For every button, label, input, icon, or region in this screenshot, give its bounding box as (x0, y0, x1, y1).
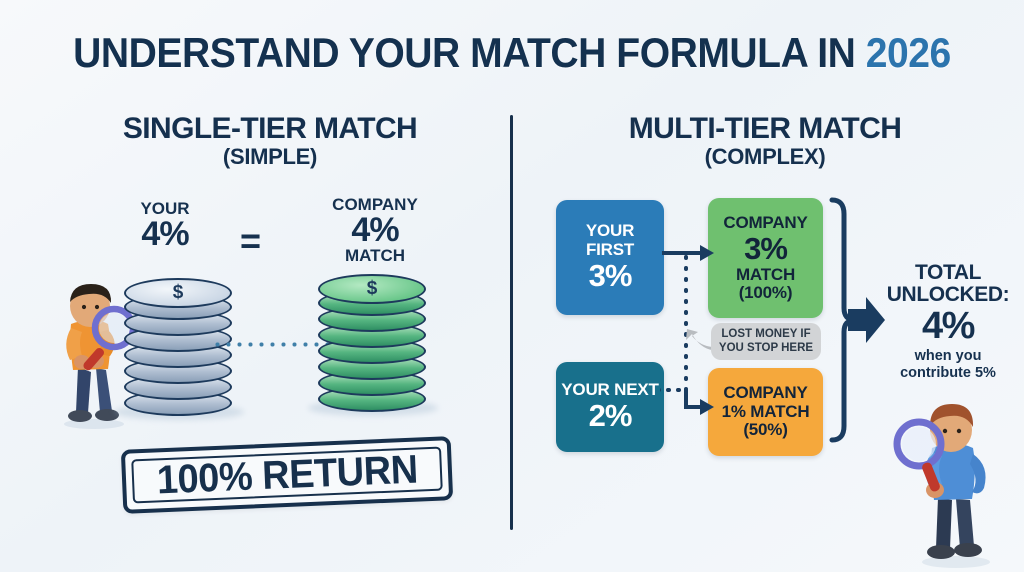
tier2-you-value: 2% (589, 399, 632, 432)
warning-line2: YOU STOP HERE (719, 342, 813, 354)
right-header-sub: (COMPLEX) (540, 145, 990, 169)
tier1-company-match-box[interactable]: COMPANY 3% MATCH (100%) (708, 198, 823, 318)
left-section-header: SINGLE-TIER MATCH (SIMPLE) (50, 113, 490, 169)
person-magnifier-blue-figure (888, 394, 1018, 572)
tier2-match-line1: COMPANY (723, 384, 807, 402)
left-header-sub: (SIMPLE) (50, 145, 490, 169)
lost-money-arrow-icon (684, 328, 714, 354)
tier1-you-value: 3% (589, 259, 632, 292)
return-stamp-text: 100% RETURN (156, 447, 419, 503)
dotted-connector-line (212, 342, 330, 347)
return-stamp-badge: 100% RETURN (121, 436, 453, 514)
tier1-you-line1: YOUR (586, 222, 634, 240)
tier1-match-line1: COMPANY (723, 214, 807, 232)
coin-stack-company: $ (318, 274, 430, 424)
total-label-line2: UNLOCKED: (872, 284, 1024, 306)
total-label-line1: TOTAL (872, 262, 1024, 284)
tier1-match-line2: MATCH (736, 266, 795, 284)
tier1-you-line2: FIRST (586, 241, 634, 259)
total-unlocked-block: TOTAL UNLOCKED: 4% when you contribute 5… (872, 262, 1024, 383)
your-contribution-label: YOUR 4% (105, 200, 225, 251)
equals-sign: = (240, 220, 261, 262)
warning-line1: LOST MONEY IF (721, 328, 810, 340)
left-header-main: SINGLE-TIER MATCH (50, 113, 490, 145)
tier2-company-match-box[interactable]: COMPANY 1% MATCH (50%) (708, 368, 823, 456)
page-title: UNDERSTAND YOUR MATCH FORMULA IN 2026 (36, 29, 988, 77)
dollar-icon: $ (173, 282, 184, 304)
tier2-your-contribution-box[interactable]: YOUR NEXT 2% (556, 362, 664, 452)
company-value-text: 4% (295, 213, 455, 247)
total-note-line2: contribute 5% (872, 365, 1024, 382)
tier1-match-rate: (100%) (739, 284, 793, 302)
company-suffix-text: MATCH (295, 247, 455, 264)
page-title-main: UNDERSTAND YOUR MATCH FORMULA IN (73, 29, 866, 76)
tier2-you-line1: YOUR NEXT (561, 381, 658, 399)
dollar-icon: $ (367, 278, 378, 300)
tier1-your-contribution-box[interactable]: YOUR FIRST 3% (556, 200, 664, 315)
vertical-divider (510, 115, 513, 530)
coin-top-with-dollar: $ (318, 274, 426, 304)
tier2-match-line2: 1% MATCH (722, 403, 810, 421)
right-header-main: MULTI-TIER MATCH (540, 113, 990, 145)
page-title-year: 2026 (866, 29, 951, 76)
company-match-label: COMPANY 4% MATCH (295, 196, 455, 264)
total-value: 4% (872, 307, 1024, 345)
coin-stack-your: $ (124, 278, 236, 428)
right-section-header: MULTI-TIER MATCH (COMPLEX) (540, 113, 990, 169)
your-value-text: 4% (105, 217, 225, 251)
tier-connector-arrows (660, 195, 718, 425)
lost-money-warning-pill: LOST MONEY IF YOU STOP HERE (711, 323, 821, 360)
total-note-line1: when you (872, 348, 1024, 365)
coin-top-with-dollar: $ (124, 278, 232, 308)
tier1-match-value: 3% (744, 232, 787, 265)
tier2-match-rate: (50%) (743, 421, 787, 439)
infographic-canvas: UNDERSTAND YOUR MATCH FORMULA IN 2026 SI… (0, 0, 1024, 572)
